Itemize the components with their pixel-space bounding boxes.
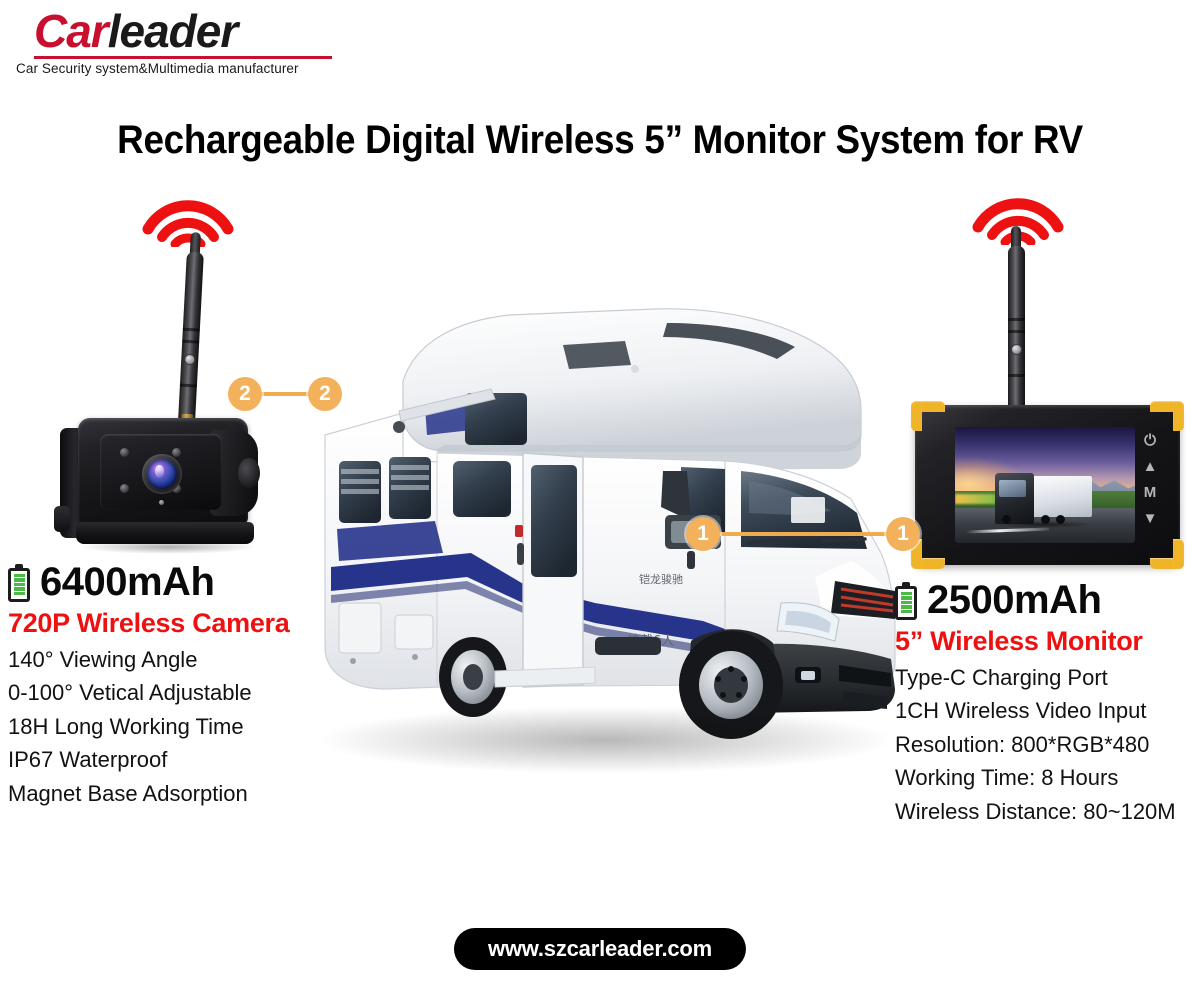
callout-line-1 (712, 532, 900, 536)
svg-text:铠龙骏驰: 铠龙骏驰 (639, 572, 683, 586)
camera-light-sensor (159, 500, 164, 505)
monitor-antenna (1002, 226, 1032, 414)
monitor-button-panel[interactable]: ⏻ ▲ M ▼ (1136, 433, 1164, 526)
camera-battery-capacity: 6400mAh (8, 560, 338, 605)
camera-adjust-knob (54, 506, 70, 532)
wireless-camera-device (60, 410, 270, 560)
monitor-corner-bumper-top-left (911, 401, 945, 431)
camera-feature-item: IP67 Waterproof (8, 743, 338, 776)
rv-ground-shadow (305, 705, 905, 775)
callout-marker-1-monitor[interactable]: 1 (886, 517, 920, 551)
monitor-corner-bumper-bottom-right (1150, 539, 1184, 569)
screen-truck-trailer (1031, 476, 1092, 518)
battery-icon (895, 582, 917, 620)
monitor-feature-item: Working Time: 8 Hours (895, 761, 1195, 794)
camera-feature-item: 0-100° Vetical Adjustable (8, 676, 338, 709)
camera-magnet-base (76, 522, 254, 544)
monitor-feature-item: Resolution: 800*RGB*480 (895, 728, 1195, 761)
camera-ir-led (120, 448, 129, 457)
rv-motorhome-image: 铠龙骏驰 核载6人 (295, 285, 905, 805)
down-button[interactable]: ▼ (1143, 511, 1158, 526)
up-button[interactable]: ▲ (1143, 459, 1158, 474)
monitor-feature-item: Type-C Charging Port (895, 661, 1195, 694)
monitor-screen (955, 427, 1135, 543)
website-banner[interactable]: www.szcarleader.com (454, 928, 746, 970)
page-title: Rechargeable Digital Wireless 5” Monitor… (48, 118, 1152, 163)
screen-truck-cab (995, 473, 1035, 524)
camera-pivot-cap (238, 458, 260, 488)
monitor-corner-bumper-top-right (1150, 401, 1184, 431)
monitor-product-title: 5” Wireless Monitor (895, 626, 1195, 657)
camera-mah-value: 6400mAh (40, 560, 214, 605)
logo-text-car: Car (34, 5, 108, 57)
brand-tagline: Car Security system&Multimedia manufactu… (8, 61, 358, 76)
poster-canvas: Carleader Car Security system&Multimedia… (0, 0, 1200, 1000)
camera-lens-ring (142, 454, 182, 494)
camera-antenna (172, 231, 212, 422)
camera-product-title: 720P Wireless Camera (8, 608, 338, 639)
monitor-spec-block: 2500mAh 5” Wireless Monitor Type-C Charg… (895, 578, 1195, 828)
camera-ir-led (172, 448, 181, 457)
logo-wordmark: Carleader (8, 8, 358, 55)
monitor-feature-list: Type-C Charging Port 1CH Wireless Video … (895, 661, 1195, 828)
callout-marker-2-camera[interactable]: 2 (228, 377, 262, 411)
logo-text-leader: leader (108, 5, 238, 57)
camera-lens (147, 459, 177, 489)
brand-logo: Carleader Car Security system&Multimedia… (8, 8, 358, 76)
camera-feature-item: 140° Viewing Angle (8, 643, 338, 676)
callout-marker-1-rv[interactable]: 1 (686, 517, 720, 551)
monitor-battery-capacity: 2500mAh (895, 578, 1195, 623)
monitor-feature-item: 1CH Wireless Video Input (895, 694, 1195, 727)
menu-button[interactable]: M (1144, 485, 1157, 500)
camera-feature-item: Magnet Base Adsorption (8, 777, 338, 810)
wireless-monitor-device: ⏻ ▲ M ▼ (915, 405, 1180, 565)
camera-ir-led (120, 484, 129, 493)
camera-spec-block: 6400mAh 720P Wireless Camera 140° Viewin… (8, 560, 338, 810)
battery-icon (8, 564, 30, 602)
power-button[interactable]: ⏻ (1144, 433, 1156, 448)
monitor-feature-item: Wireless Distance: 80~120M (895, 795, 1195, 828)
monitor-mah-value: 2500mAh (927, 578, 1101, 623)
camera-feature-item: 18H Long Working Time (8, 710, 338, 743)
callout-marker-2-rv[interactable]: 2 (308, 377, 342, 411)
camera-feature-list: 140° Viewing Angle 0-100° Vetical Adjust… (8, 643, 338, 810)
